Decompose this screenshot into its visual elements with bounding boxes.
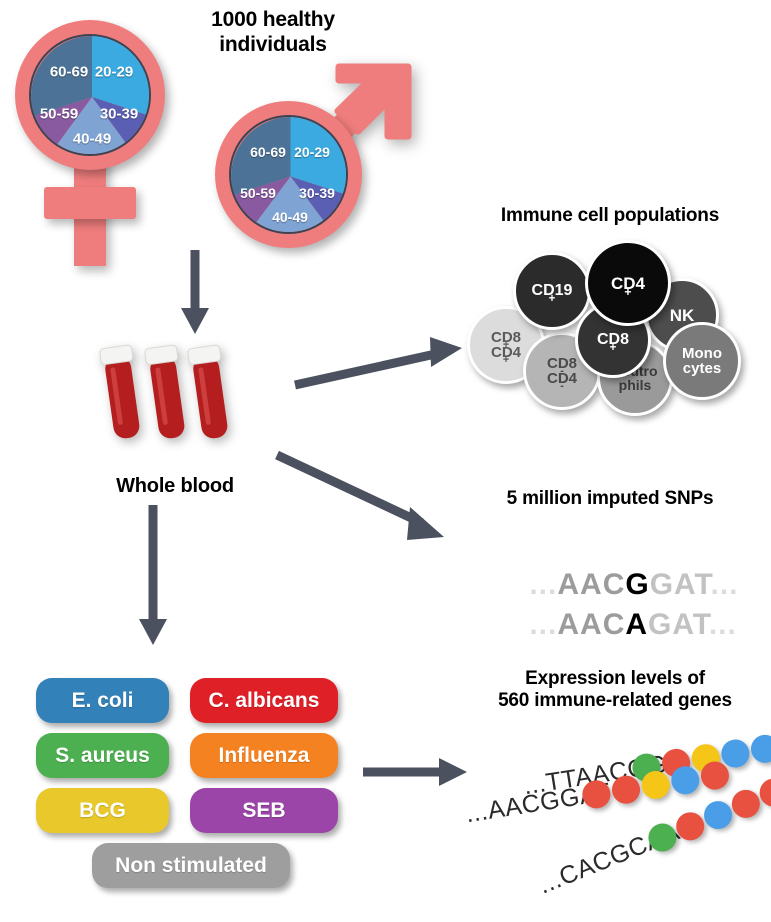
stimulus-seb[interactable]: SEB	[190, 788, 338, 833]
male-gender-symbol: 20-29 30-39 40-49 50-59 60-69	[210, 58, 425, 248]
stimulus-e-coli-label: E. coli	[72, 689, 134, 713]
snp-seq2-right: GAT	[648, 608, 709, 641]
expression-bead	[610, 774, 642, 806]
stimulus-c-albicans[interactable]: C. albicans	[190, 678, 338, 723]
monocytes-line2: cytes	[682, 361, 722, 376]
cohort-title-line2: individuals	[178, 33, 368, 58]
stimulus-e-coli[interactable]: E. coli	[36, 678, 169, 723]
cd4pos-label: CD4+	[611, 275, 645, 292]
monocytes-line1: Mono	[682, 346, 722, 361]
female-symbol-stem-horizontal	[44, 187, 136, 219]
snp-seq2-variant: A	[625, 608, 648, 641]
nk-label: NK	[670, 307, 695, 324]
stimulus-s-aureus-label: S. aureus	[55, 744, 150, 768]
snps-heading: 5 million imputed SNPs	[460, 488, 760, 510]
expression-heading: Expression levels of 560 immune-related …	[463, 668, 767, 713]
immune-cell-cd4pos: CD4+	[585, 240, 671, 326]
whole-blood-label: Whole blood	[75, 475, 275, 499]
blood-tube	[99, 345, 143, 441]
cd8neg-cd4neg-line2: CD4-	[547, 371, 577, 386]
cd8pos-cd4pos-line1: CD8+	[491, 330, 521, 345]
stimulus-influenza[interactable]: Influenza	[190, 733, 338, 778]
figure-canvas: 1000 healthy individuals 20-29 30-39 40-…	[0, 0, 771, 922]
cohort-title-line1: 1000 healthy	[178, 8, 368, 33]
snp-seq2-left: AAC	[557, 608, 625, 641]
pie-label-50-59: 50-59	[40, 106, 78, 123]
immune-cell-cluster: CD8+ CD4+ CD19+ CD4+ CD8+ NK CD8- CD4-	[465, 240, 765, 415]
cd8pos-label: CD8+	[597, 332, 629, 348]
cd8neg-cd4neg-line1: CD8-	[547, 356, 577, 371]
pie-label-50-59: 50-59	[240, 185, 276, 201]
stimulus-s-aureus[interactable]: S. aureus	[36, 733, 169, 778]
female-gender-symbol: 20-29 30-39 40-49 50-59 60-69	[8, 18, 188, 268]
snp-seq2-suffix-dots: ...	[709, 608, 737, 641]
snp-seq2-prefix-dots: ...	[529, 608, 557, 641]
stimulus-influenza-label: Influenza	[218, 744, 309, 768]
immune-populations-heading: Immune cell populations	[455, 205, 765, 227]
male-age-pie-chart: 20-29 30-39 40-49 50-59 60-69	[229, 115, 348, 234]
pie-label-40-49: 40-49	[272, 209, 308, 225]
cohort-title: 1000 healthy individuals	[178, 8, 368, 58]
stimulus-c-albicans-label: C. albicans	[209, 689, 320, 713]
female-age-pie-chart: 20-29 30-39 40-49 50-59 60-69	[29, 34, 151, 156]
arrow-blood-to-snps	[272, 445, 462, 555]
stimulus-seb-label: SEB	[242, 799, 285, 823]
stimulus-bcg[interactable]: BCG	[36, 788, 169, 833]
arrow-blood-to-stimuli	[133, 505, 173, 650]
immune-cell-monocytes: Mono cytes	[663, 322, 741, 400]
pie-label-20-29: 20-29	[95, 64, 133, 81]
arrow-cohort-to-blood	[175, 250, 215, 340]
pie-label-20-29: 20-29	[294, 144, 330, 160]
stimulus-non-stimulated-label: Non stimulated	[115, 854, 267, 878]
pie-label-40-49: 40-49	[73, 131, 111, 148]
pie-label-30-39: 30-39	[299, 185, 335, 201]
whole-blood-tubes	[95, 340, 255, 455]
cd19pos-label: CD19+	[532, 283, 573, 299]
expression-bead	[640, 769, 672, 801]
pie-label-30-39: 30-39	[100, 106, 138, 123]
expression-heading-line1: Expression levels of	[463, 668, 767, 690]
pie-label-60-69: 60-69	[250, 144, 286, 160]
expression-bead	[749, 733, 771, 765]
immune-cell-cd19pos: CD19+	[513, 252, 591, 330]
snp-sequence-2: ...AACAGAT...	[492, 574, 737, 676]
expression-heading-line2: 560 immune-related genes	[463, 690, 767, 712]
neutrophils-line2: phils	[612, 378, 657, 392]
stimulus-bcg-label: BCG	[79, 799, 126, 823]
arrow-blood-to-immune	[290, 335, 470, 395]
stimulus-non-stimulated[interactable]: Non stimulated	[92, 843, 290, 888]
arrow-stimuli-to-expression	[363, 752, 473, 792]
pie-label-60-69: 60-69	[50, 64, 88, 81]
cd8pos-cd4pos-line2: CD4+	[491, 345, 521, 360]
expression-bead	[669, 764, 701, 796]
blood-tube	[187, 345, 231, 441]
blood-tube	[144, 345, 188, 441]
